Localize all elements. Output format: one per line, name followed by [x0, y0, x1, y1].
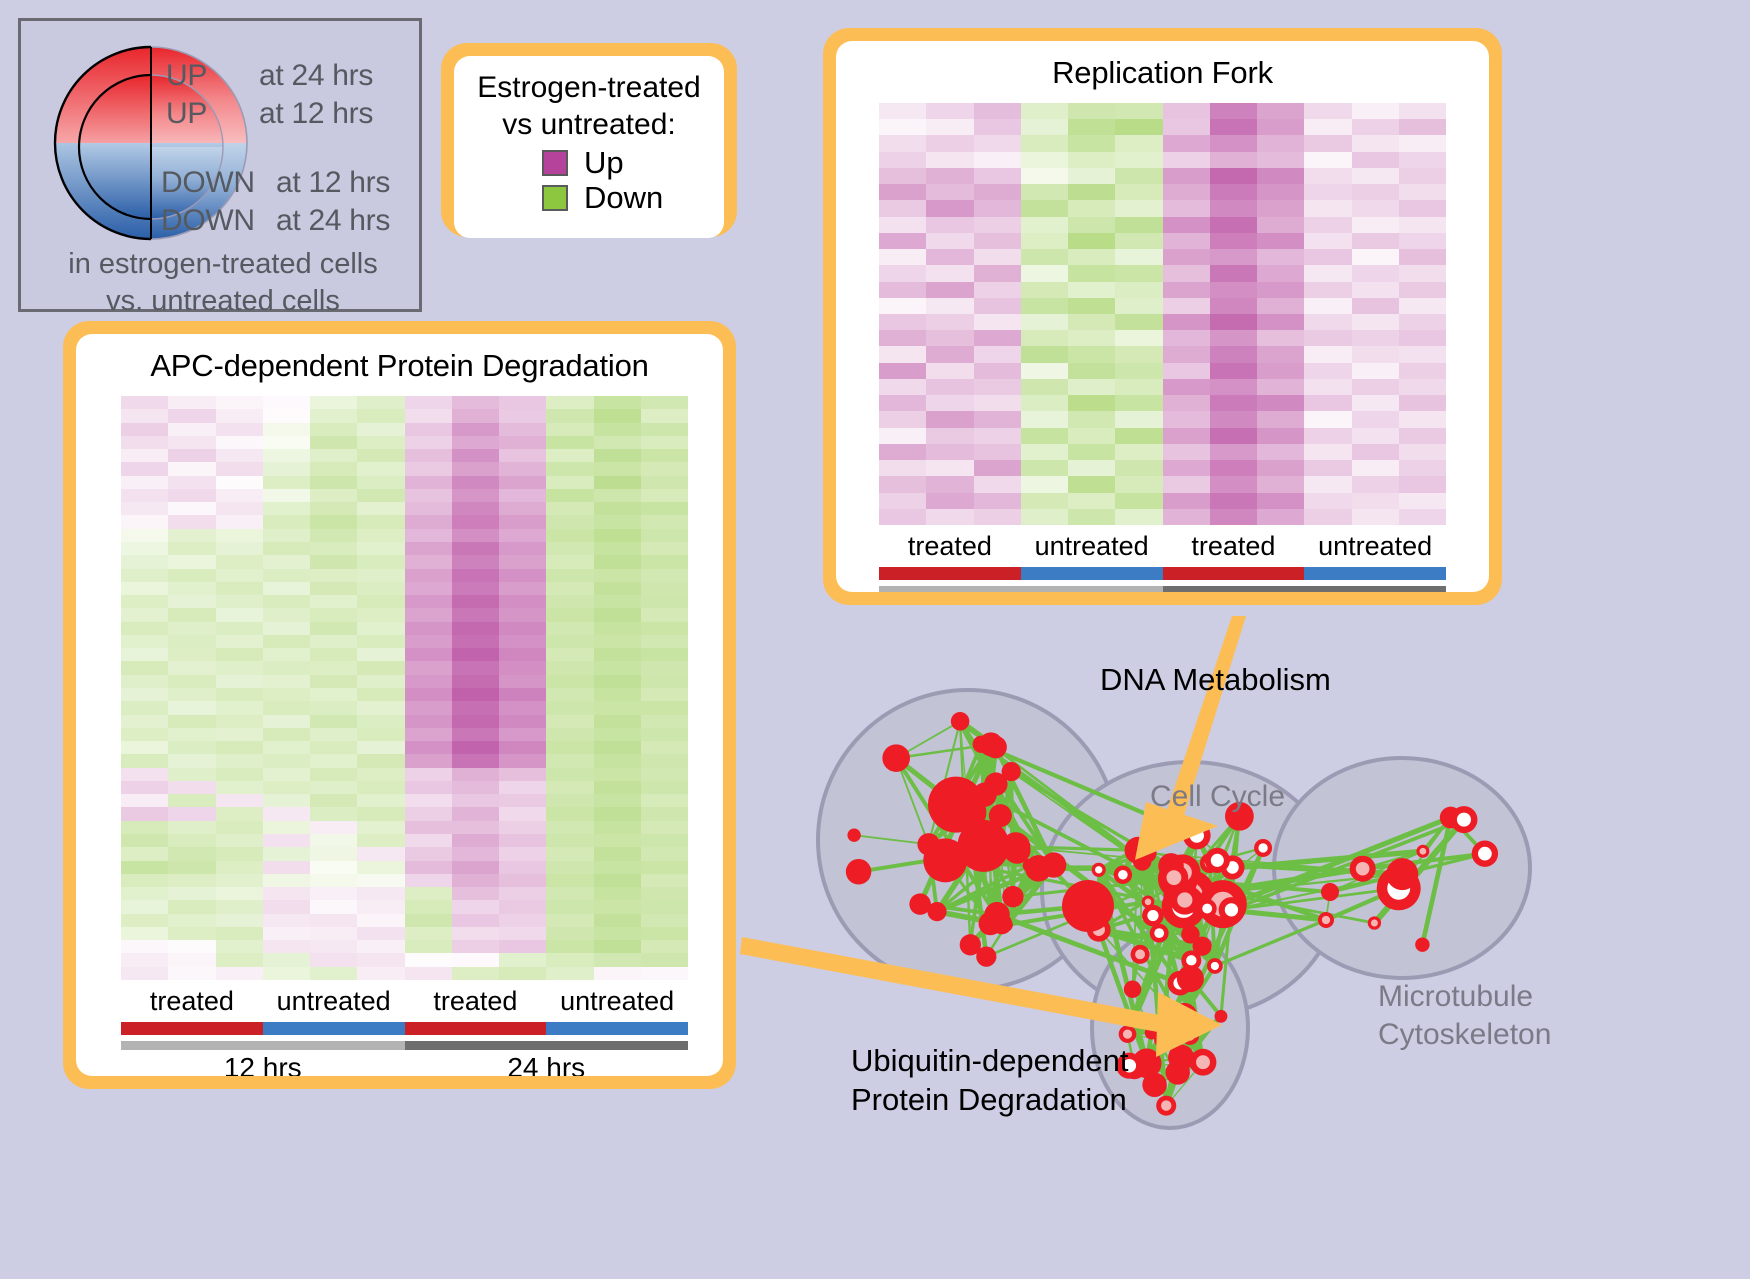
heatmap-cell	[1115, 152, 1162, 168]
condition-group-label: treated	[879, 531, 1021, 562]
heatmap-cell	[499, 834, 546, 847]
heatmap-cell	[168, 396, 215, 409]
heatmap-cell	[452, 595, 499, 608]
heatmap-cell	[594, 476, 641, 489]
heatmap-cell	[357, 874, 404, 887]
heatmap-cell	[310, 807, 357, 820]
network-node[interactable]	[882, 744, 910, 772]
heatmap-cell	[594, 728, 641, 741]
heatmap-cell	[405, 741, 452, 754]
heatmap-cell	[357, 555, 404, 568]
heatmap-cell	[594, 794, 641, 807]
heatmap-cell	[121, 423, 168, 436]
network-node[interactable]	[1318, 912, 1334, 928]
heatmap-cell	[263, 768, 310, 781]
heatmap-cell	[1399, 217, 1446, 233]
heatmap-cell	[879, 476, 926, 492]
heatmap-cell	[216, 648, 263, 661]
heatmap-cell	[357, 582, 404, 595]
network-node-core	[1190, 828, 1204, 842]
heatmap-cell	[310, 953, 357, 966]
network-node[interactable]	[1114, 866, 1132, 884]
heatmap-cell	[1304, 152, 1351, 168]
heatmap-cell	[499, 635, 546, 648]
heatmap-cell	[594, 861, 641, 874]
heatmap-cell	[405, 768, 452, 781]
heatmap-cell	[310, 622, 357, 635]
heatmap-cell	[168, 476, 215, 489]
heatmap-cell	[310, 821, 357, 834]
heatmap-cell	[263, 396, 310, 409]
network-node[interactable]	[1124, 981, 1141, 998]
heatmap-cell	[1257, 428, 1304, 444]
heatmap-cell	[594, 423, 641, 436]
heatmap-cell	[1257, 152, 1304, 168]
heatmap-cell	[594, 608, 641, 621]
heatmap-cell	[357, 768, 404, 781]
heatmap-cell	[641, 449, 688, 462]
heatmap-cell	[641, 701, 688, 714]
network-node[interactable]	[972, 783, 996, 807]
heatmap-cell	[499, 423, 546, 436]
colorbar-row-2-time: at 12 hrs	[276, 166, 390, 200]
network-node[interactable]	[909, 893, 930, 914]
heatmap-cell	[168, 515, 215, 528]
heatmap-cell	[216, 940, 263, 953]
heatmap-cell	[310, 900, 357, 913]
heatmap-cell	[1163, 265, 1210, 281]
heatmap-cell	[546, 701, 593, 714]
heatmap-cell	[1163, 152, 1210, 168]
heatmap-cell	[216, 661, 263, 674]
network-node[interactable]	[973, 736, 990, 753]
network-node[interactable]	[847, 829, 860, 842]
network-node[interactable]	[1350, 856, 1376, 882]
heatmap-cell	[1352, 444, 1399, 460]
network-node-core	[1457, 813, 1471, 827]
network-node-core	[1394, 866, 1411, 883]
heatmap-cell	[974, 168, 1021, 184]
colorbar-row-3-label: DOWN	[161, 204, 255, 238]
replication-fork-condition-bar	[879, 567, 1446, 580]
heatmap-cell	[357, 927, 404, 940]
heatmap-cell	[1352, 152, 1399, 168]
condition-group-label: untreated	[546, 986, 688, 1017]
heatmap-cell	[168, 887, 215, 900]
heatmap-cell	[499, 661, 546, 674]
heatmap-cell	[1163, 298, 1210, 314]
heatmap-cell	[216, 529, 263, 542]
heatmap-cell	[216, 449, 263, 462]
heatmap-cell	[1021, 379, 1068, 395]
heatmap-cell	[1352, 119, 1399, 135]
heatmap-cell	[641, 940, 688, 953]
heatmap-cell	[405, 914, 452, 927]
heatmap-cell	[405, 622, 452, 635]
heatmap-cell	[1399, 119, 1446, 135]
heatmap-cell	[1021, 233, 1068, 249]
network-node[interactable]	[1156, 1096, 1176, 1116]
apc-degradation-heatmap	[121, 396, 688, 980]
network-node-core	[1325, 887, 1334, 896]
heatmap-cell	[121, 608, 168, 621]
heatmap-cell	[263, 515, 310, 528]
heatmap-cell	[1352, 314, 1399, 330]
heatmap-cell	[263, 529, 310, 542]
heatmap-cell	[310, 688, 357, 701]
heatmap-cell	[168, 794, 215, 807]
heatmap-cell	[879, 168, 926, 184]
heatmap-cell	[499, 940, 546, 953]
heatmap-cell	[1352, 509, 1399, 525]
heatmap-cell	[121, 754, 168, 767]
network-node[interactable]	[979, 912, 1003, 936]
network-node[interactable]	[1450, 806, 1477, 833]
heatmap-cell	[405, 874, 452, 887]
heatmap-cell	[405, 953, 452, 966]
network-node[interactable]	[1171, 1003, 1197, 1029]
network-node[interactable]	[1254, 839, 1272, 857]
network-node[interactable]	[1142, 1073, 1166, 1097]
heatmap-cell	[594, 953, 641, 966]
heatmap-cell	[974, 428, 1021, 444]
heatmap-cell	[1021, 103, 1068, 119]
network-node[interactable]	[976, 947, 996, 967]
heatmap-cell	[499, 794, 546, 807]
heatmap-cell	[452, 847, 499, 860]
heatmap-cell	[1210, 200, 1257, 216]
heatmap-cell	[405, 861, 452, 874]
network-node[interactable]	[1416, 845, 1429, 858]
heatmap-cell	[263, 821, 310, 834]
heatmap-cell	[1304, 282, 1351, 298]
heatmap-cell	[168, 953, 215, 966]
heatmap-cell	[1257, 476, 1304, 492]
heatmap-cell	[310, 648, 357, 661]
network-node[interactable]	[1181, 1027, 1199, 1045]
heatmap-cell	[452, 423, 499, 436]
heatmap-cell	[263, 648, 310, 661]
heatmap-cell	[405, 967, 452, 980]
heatmap-cell	[546, 754, 593, 767]
heatmap-cell	[1163, 330, 1210, 346]
heatmap-cell	[546, 515, 593, 528]
heatmap-cell	[499, 569, 546, 582]
heatmap-cell	[594, 436, 641, 449]
network-node[interactable]	[1368, 916, 1381, 929]
heatmap-cell	[546, 595, 593, 608]
network-node[interactable]	[989, 804, 1012, 827]
up-color-swatch	[542, 150, 568, 176]
heatmap-cell	[357, 529, 404, 542]
time-bar-segment	[879, 586, 1163, 592]
heatmap-cell	[879, 314, 926, 330]
pathway-network-diagram	[770, 620, 1750, 1279]
heatmap-cell	[121, 900, 168, 913]
heatmap-legend-title: Estrogen-treated vs untreated:	[454, 70, 724, 143]
network-node[interactable]	[1205, 848, 1230, 873]
heatmap-cell	[168, 967, 215, 980]
network-node[interactable]	[1386, 858, 1418, 890]
network-node[interactable]	[1160, 1036, 1172, 1048]
heatmap-cell	[263, 582, 310, 595]
network-node[interactable]	[1219, 897, 1245, 923]
network-node-core	[1186, 955, 1196, 965]
heatmap-cell	[641, 582, 688, 595]
network-node[interactable]	[1041, 852, 1066, 877]
heatmap-cell	[310, 715, 357, 728]
heatmap-cell	[641, 688, 688, 701]
heatmap-cell	[546, 396, 593, 409]
heatmap-cell	[1210, 217, 1257, 233]
heatmap-cell	[310, 635, 357, 648]
network-node-core	[1419, 941, 1426, 948]
heatmap-cell	[1257, 509, 1304, 525]
heatmap-cell	[1021, 428, 1068, 444]
heatmap-cell	[1115, 476, 1162, 492]
heatmap-cell	[263, 489, 310, 502]
heatmap-cell	[121, 847, 168, 860]
heatmap-cell	[1210, 265, 1257, 281]
network-node[interactable]	[1177, 965, 1204, 992]
heatmap-cell	[546, 821, 593, 834]
network-node[interactable]	[1131, 945, 1150, 964]
heatmap-cell	[926, 493, 973, 509]
heatmap-cell	[216, 914, 263, 927]
network-node[interactable]	[1062, 880, 1114, 932]
cluster-label-ubiquitin: Ubiquitin-dependent Protein Degradation	[851, 1042, 1129, 1120]
condition-group-label: untreated	[1021, 531, 1163, 562]
heatmap-cell	[121, 476, 168, 489]
network-node[interactable]	[917, 833, 939, 855]
network-node[interactable]	[951, 712, 970, 731]
heatmap-cell	[1210, 184, 1257, 200]
network-node[interactable]	[1190, 1049, 1217, 1076]
heatmap-cell	[1352, 379, 1399, 395]
heatmap-cell	[1115, 395, 1162, 411]
condition-group-label: treated	[121, 986, 263, 1017]
heatmap-cell	[879, 119, 926, 135]
heatmap-cell	[310, 914, 357, 927]
heatmap-cell	[594, 595, 641, 608]
heatmap-cell	[263, 675, 310, 688]
heatmap-cell	[1352, 330, 1399, 346]
heatmap-cell	[168, 648, 215, 661]
network-node[interactable]	[1002, 886, 1023, 907]
network-node-core	[1161, 1100, 1171, 1110]
colorbar-footer-line-2: vs. untreated cells	[21, 283, 425, 320]
heatmap-cell	[216, 582, 263, 595]
heatmap-cell	[974, 314, 1021, 330]
network-node[interactable]	[1092, 863, 1106, 877]
heatmap-cell	[357, 635, 404, 648]
heatmap-cell	[1115, 509, 1162, 525]
heatmap-cell	[216, 754, 263, 767]
network-node[interactable]	[1183, 822, 1211, 850]
heatmap-cell	[594, 807, 641, 820]
heatmap-cell	[1352, 135, 1399, 151]
heatmap-cell	[594, 914, 641, 927]
network-node[interactable]	[1004, 837, 1031, 864]
heatmap-cell	[263, 608, 310, 621]
heatmap-cell	[974, 363, 1021, 379]
heatmap-cell	[1068, 249, 1115, 265]
heatmap-cell	[594, 874, 641, 887]
heatmap-cell	[1352, 460, 1399, 476]
colorbar-row-2-label: DOWN	[161, 166, 255, 200]
heatmap-cell	[263, 940, 310, 953]
heatmap-cell	[1068, 379, 1115, 395]
heatmap-cell	[1352, 200, 1399, 216]
heatmap-cell	[1304, 509, 1351, 525]
heatmap-legend-panel: Estrogen-treated vs untreated: Up Down	[441, 43, 737, 237]
heatmap-cell	[499, 595, 546, 608]
network-node-core	[1118, 870, 1128, 880]
heatmap-cell	[1163, 119, 1210, 135]
heatmap-cell	[168, 940, 215, 953]
heatmap-cell	[357, 595, 404, 608]
heatmap-cell	[594, 768, 641, 781]
heatmap-cell	[926, 314, 973, 330]
heatmap-cell	[499, 688, 546, 701]
heatmap-cell	[1257, 298, 1304, 314]
heatmap-cell	[263, 701, 310, 714]
network-node[interactable]	[1472, 840, 1498, 866]
heatmap-cell	[641, 728, 688, 741]
heatmap-cell	[499, 542, 546, 555]
network-node-core	[1211, 962, 1219, 970]
heatmap-cell	[499, 608, 546, 621]
network-node[interactable]	[1142, 905, 1164, 927]
heatmap-cell	[641, 927, 688, 940]
cluster-label-ubiquitin-line-2: Protein Degradation	[851, 1081, 1129, 1120]
heatmap-cell	[594, 847, 641, 860]
heatmap-cell	[546, 622, 593, 635]
heatmap-cell	[1068, 460, 1115, 476]
network-node[interactable]	[1150, 924, 1169, 943]
network-node[interactable]	[1207, 958, 1223, 974]
heatmap-cell	[1352, 233, 1399, 249]
heatmap-cell	[168, 661, 215, 674]
heatmap-cell	[926, 265, 973, 281]
heatmap-cell	[499, 715, 546, 728]
heatmap-cell	[357, 423, 404, 436]
heatmap-cell	[1068, 314, 1115, 330]
heatmap-cell	[357, 861, 404, 874]
heatmap-cell	[499, 953, 546, 966]
heatmap-cell	[546, 675, 593, 688]
heatmap-cell	[168, 635, 215, 648]
heatmap-cell	[310, 861, 357, 874]
heatmap-cell	[1352, 282, 1399, 298]
heatmap-cell	[263, 542, 310, 555]
heatmap-cell	[926, 152, 973, 168]
heatmap-cell	[357, 409, 404, 422]
heatmap-cell	[1399, 298, 1446, 314]
heatmap-cell	[546, 874, 593, 887]
heatmap-cell	[594, 675, 641, 688]
network-node[interactable]	[1136, 843, 1156, 863]
heatmap-cell	[974, 119, 1021, 135]
heatmap-cell	[452, 462, 499, 475]
heatmap-cell	[263, 953, 310, 966]
heatmap-cell	[310, 489, 357, 502]
heatmap-cell	[594, 834, 641, 847]
heatmap-cell	[1210, 444, 1257, 460]
heatmap-cell	[499, 781, 546, 794]
heatmap-cell	[405, 821, 452, 834]
heatmap-cell	[357, 794, 404, 807]
network-node[interactable]	[1160, 863, 1189, 892]
cluster-label-microtubule-line-2: Cytoskeleton	[1378, 1016, 1551, 1054]
network-node-core	[1218, 1013, 1225, 1020]
heatmap-cell	[1163, 314, 1210, 330]
heatmap-cell	[121, 582, 168, 595]
network-node[interactable]	[1415, 937, 1429, 951]
heatmap-cell	[310, 582, 357, 595]
network-node[interactable]	[1002, 762, 1021, 781]
heatmap-cell	[357, 834, 404, 847]
heatmap-cell	[1352, 363, 1399, 379]
network-node[interactable]	[1119, 1025, 1137, 1043]
heatmap-cell	[121, 741, 168, 754]
heatmap-cell	[641, 847, 688, 860]
heatmap-cell	[499, 622, 546, 635]
heatmap-cell	[499, 502, 546, 515]
heatmap-cell	[216, 396, 263, 409]
heatmap-cell	[1257, 249, 1304, 265]
heatmap-cell	[879, 444, 926, 460]
heatmap-cell	[1352, 249, 1399, 265]
heatmap-cell	[641, 396, 688, 409]
heatmap-cell	[452, 900, 499, 913]
heatmap-cell	[216, 436, 263, 449]
heatmap-cell	[499, 529, 546, 542]
heatmap-cell	[1021, 444, 1068, 460]
heatmap-cell	[405, 807, 452, 820]
heatmap-cell	[263, 409, 310, 422]
condition-group-label: treated	[1163, 531, 1305, 562]
heatmap-cell	[1352, 298, 1399, 314]
network-node[interactable]	[1321, 883, 1339, 901]
heatmap-cell	[499, 449, 546, 462]
cluster-label-microtubule: Microtubule Cytoskeleton	[1378, 978, 1551, 1053]
heatmap-cell	[499, 701, 546, 714]
heatmap-cell	[216, 595, 263, 608]
heatmap-cell	[499, 582, 546, 595]
heatmap-cell	[594, 635, 641, 648]
network-node[interactable]	[1168, 1045, 1194, 1071]
apc-time-labels: 12 hrs24 hrs	[121, 1052, 688, 1076]
heatmap-cell	[1021, 152, 1068, 168]
heatmap-cell	[168, 595, 215, 608]
network-node[interactable]	[1215, 1010, 1228, 1023]
heatmap-cell	[641, 529, 688, 542]
heatmap-cell	[1399, 200, 1446, 216]
heatmap-cell	[1304, 428, 1351, 444]
heatmap-cell	[168, 781, 215, 794]
heatmap-cell	[168, 569, 215, 582]
heatmap-cell	[1021, 265, 1068, 281]
heatmap-cell	[121, 688, 168, 701]
network-node-core	[1211, 854, 1224, 867]
heatmap-cell	[594, 887, 641, 900]
heatmap-cell	[546, 608, 593, 621]
network-node[interactable]	[846, 859, 872, 885]
heatmap-cell	[405, 900, 452, 913]
heatmap-cell	[216, 515, 263, 528]
heatmap-cell	[641, 874, 688, 887]
